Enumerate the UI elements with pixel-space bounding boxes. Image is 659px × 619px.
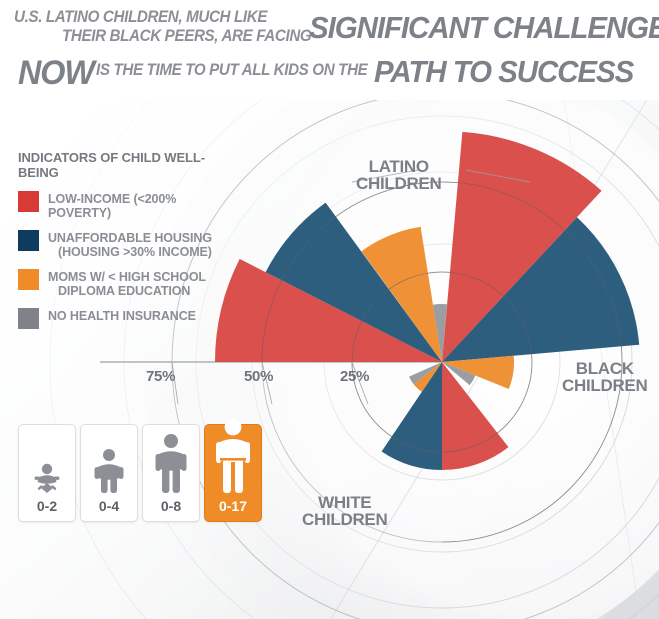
headline: U.S. LATINO CHILDREN, MUCH LIKE THEIR BL… bbox=[0, 0, 659, 108]
age-label-0-17: 0-17 bbox=[219, 498, 247, 514]
headline-line-2c: PATH TO SUCCESS bbox=[374, 54, 633, 90]
axis-tick-25: 25% bbox=[340, 368, 369, 385]
group-label-latino-line1: LATINO bbox=[356, 158, 441, 175]
group-label-black: BLACK CHILDREN bbox=[562, 360, 647, 394]
legend-item-no-insurance: NO HEALTH INSURANCE bbox=[18, 307, 240, 329]
age-option-0-8[interactable]: 0-8 bbox=[142, 424, 200, 522]
legend-label-moms-no-diploma-line1: MOMS W/ < HIGH SCHOOL bbox=[48, 270, 206, 284]
headline-line-1b: THEIR BLACK PEERS, ARE FACING bbox=[62, 27, 311, 46]
legend-label-low-income: LOW-INCOME (<200% POVERTY) bbox=[48, 190, 240, 220]
toddler-icon bbox=[81, 425, 137, 498]
infant-icon bbox=[19, 425, 75, 498]
legend-swatch-moms-no-diploma bbox=[18, 269, 39, 290]
age-label-0-8: 0-8 bbox=[161, 498, 181, 514]
legend-label-no-insurance: NO HEALTH INSURANCE bbox=[48, 307, 196, 323]
headline-now: NOW bbox=[18, 54, 94, 93]
legend-label-unaffordable-housing: UNAFFORDABLE HOUSING (HOUSING >30% INCOM… bbox=[48, 229, 212, 259]
legend-item-moms-no-diploma: MOMS W/ < HIGH SCHOOL DIPLOMA EDUCATION bbox=[18, 268, 240, 298]
legend-label-low-income-line1: LOW-INCOME (<200% POVERTY) bbox=[48, 192, 176, 220]
headline-line-1c: SIGNIFICANT CHALLENGES bbox=[309, 10, 659, 46]
teen-icon bbox=[205, 417, 261, 498]
legend-label-no-insurance-line1: NO HEALTH INSURANCE bbox=[48, 309, 196, 323]
group-wedges-black bbox=[442, 132, 639, 389]
legend-label-unaffordable-housing-line1: UNAFFORDABLE HOUSING bbox=[48, 231, 212, 245]
group-label-black-line1: BLACK bbox=[562, 360, 647, 377]
group-label-white-line1: WHITE bbox=[302, 494, 387, 511]
legend-swatch-unaffordable-housing bbox=[18, 230, 39, 251]
legend-swatch-no-insurance bbox=[18, 308, 39, 329]
legend-label-unaffordable-housing-line2: (HOUSING >30% INCOME) bbox=[48, 245, 212, 259]
group-wedges-latino bbox=[215, 203, 442, 362]
legend-swatch-low-income bbox=[18, 191, 39, 212]
group-label-latino: LATINO CHILDREN bbox=[356, 158, 441, 192]
infographic-page: U.S. LATINO CHILDREN, MUCH LIKE THEIR BL… bbox=[0, 0, 659, 619]
group-label-latino-line2: CHILDREN bbox=[356, 175, 441, 192]
legend-item-unaffordable-housing: UNAFFORDABLE HOUSING (HOUSING >30% INCOM… bbox=[18, 229, 240, 259]
age-label-0-2: 0-2 bbox=[37, 498, 57, 514]
age-selector[interactable]: 0-2 0-4 bbox=[18, 424, 262, 522]
legend-label-moms-no-diploma-line2: DIPLOMA EDUCATION bbox=[48, 284, 206, 298]
legend-item-low-income: LOW-INCOME (<200% POVERTY) bbox=[18, 190, 240, 220]
axis-tick-50: 50% bbox=[244, 368, 273, 385]
legend: INDICATORS OF CHILD WELL-BEING LOW-INCOM… bbox=[18, 150, 240, 338]
child-icon bbox=[143, 425, 199, 498]
age-option-0-2[interactable]: 0-2 bbox=[18, 424, 76, 522]
headline-line-1a: U.S. LATINO CHILDREN, MUCH LIKE bbox=[14, 8, 267, 27]
age-option-0-17[interactable]: 0-17 bbox=[204, 424, 262, 522]
axis-tick-75: 75% bbox=[146, 368, 175, 385]
group-label-black-line2: CHILDREN bbox=[562, 377, 647, 394]
legend-label-moms-no-diploma: MOMS W/ < HIGH SCHOOL DIPLOMA EDUCATION bbox=[48, 268, 206, 298]
headline-line-2b: IS THE TIME TO PUT ALL KIDS ON THE bbox=[96, 61, 367, 80]
age-label-0-4: 0-4 bbox=[99, 498, 119, 514]
group-label-white-line2: CHILDREN bbox=[302, 511, 387, 528]
legend-title: INDICATORS OF CHILD WELL-BEING bbox=[18, 150, 240, 180]
age-option-0-4[interactable]: 0-4 bbox=[80, 424, 138, 522]
group-label-white: WHITE CHILDREN bbox=[302, 494, 387, 528]
